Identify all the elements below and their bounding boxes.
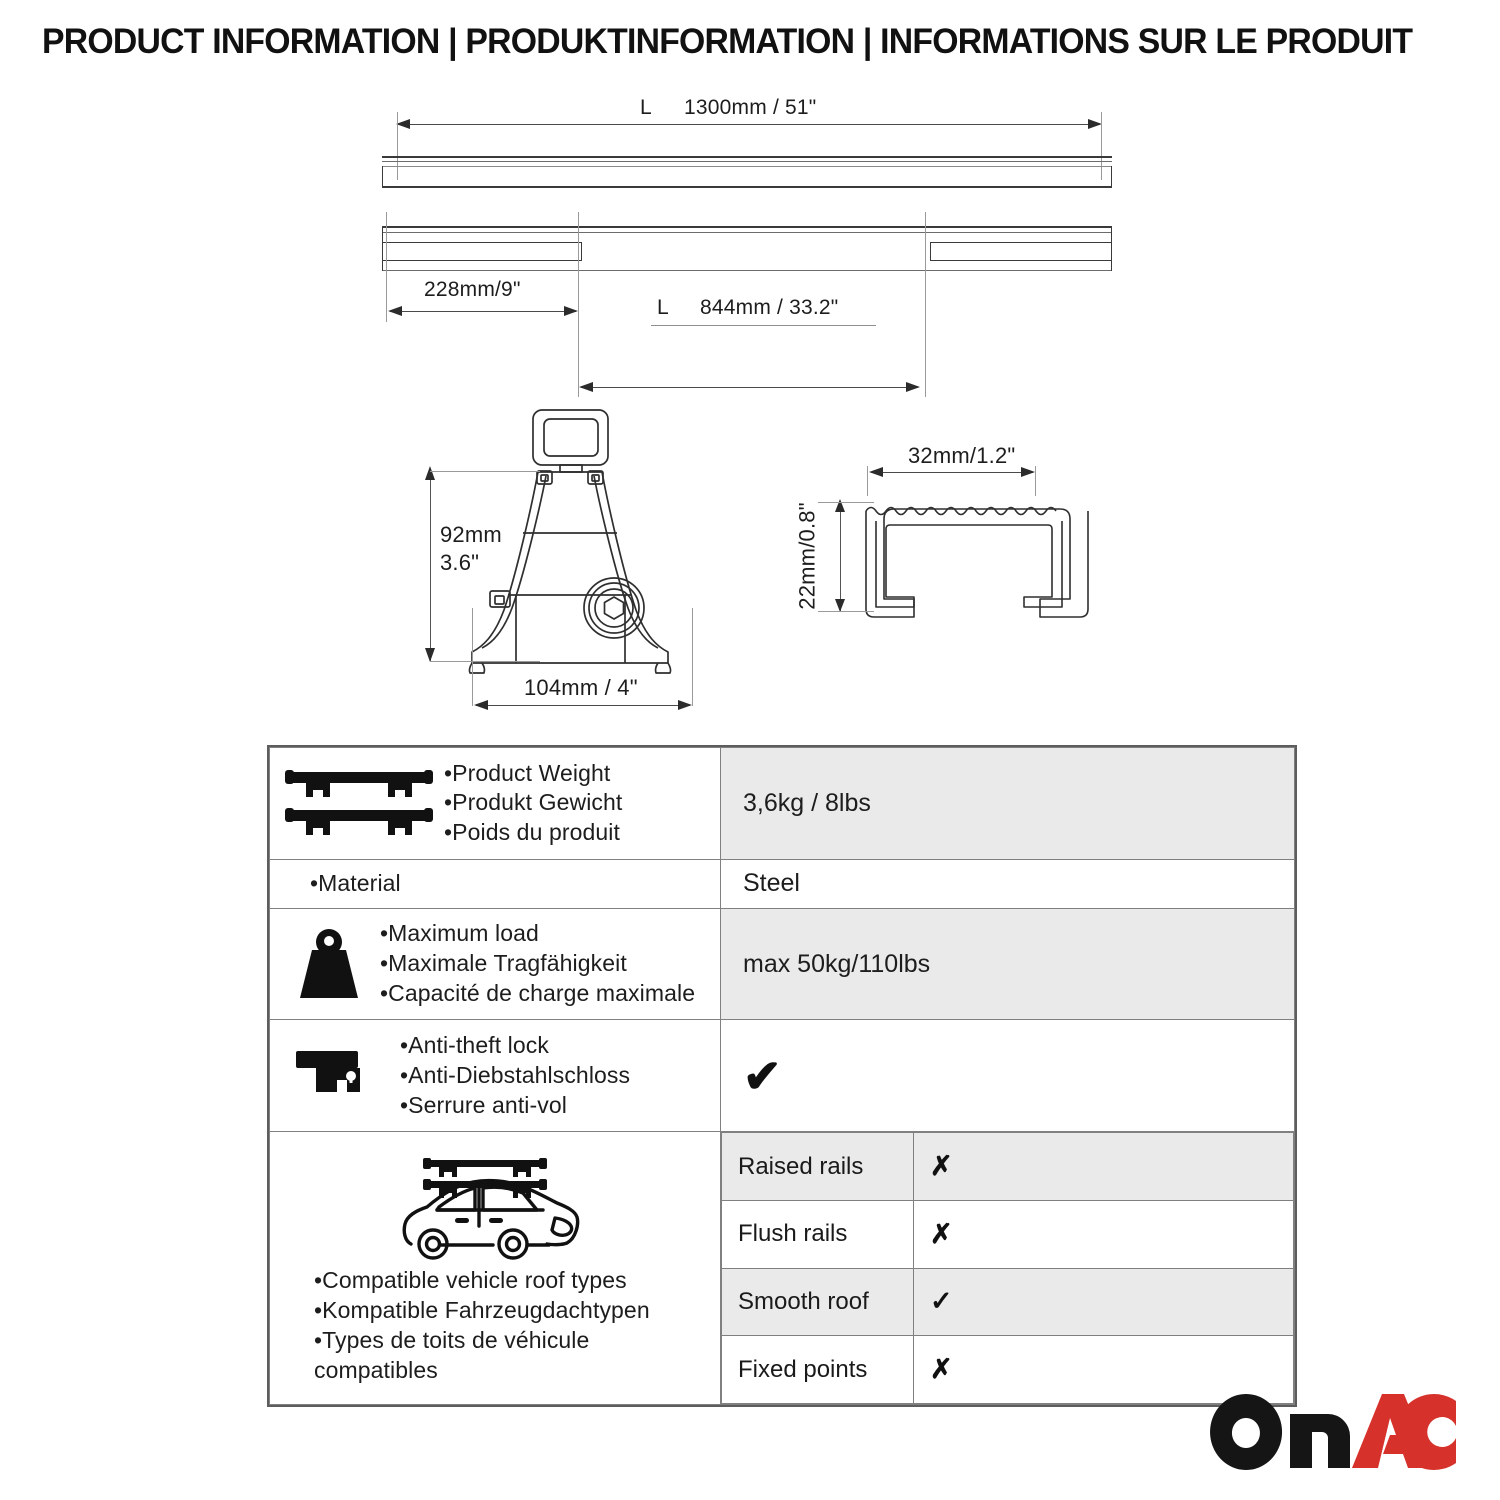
lock-icon (294, 1045, 374, 1107)
foot-height-line2: 3.6" (440, 550, 479, 576)
compat-row-smooth-roof: Smooth roof ✓ (722, 1268, 1294, 1336)
profile-width-ext-right (1035, 466, 1036, 496)
row-value-anti-theft: ✔ (721, 1020, 1295, 1132)
check-mark: ✓ (930, 1286, 953, 1316)
product-information-sheet: PRODUCT INFORMATION | PRODUKTINFORMATION… (0, 0, 1500, 1500)
row-label-text: •Material (310, 869, 401, 899)
compat-mark-smooth-roof: ✓ (914, 1268, 1294, 1336)
compat-row-flush-rails: Flush rails ✗ (722, 1200, 1294, 1268)
foot-width-dim-line (476, 705, 690, 706)
row-value-weight: 3,6kg / 8lbs (721, 748, 1295, 860)
row-label-text: •Anti-theft lock •Anti-Diebstahlschloss … (400, 1031, 630, 1121)
compatibility-subtable: Raised rails ✗ Flush rails ✗ (721, 1132, 1294, 1404)
profile-width-dim-line (871, 472, 1033, 473)
ext-line-228-left (386, 212, 387, 322)
row-label-text: •Maximum load •Maximale Tragfähigkeit •C… (380, 919, 695, 1009)
compat-mark-flush-rails: ✗ (914, 1200, 1294, 1268)
row-label-text: •Product Weight •Produkt Gewicht •Poids … (444, 759, 622, 849)
table-row: •Product Weight •Produkt Gewicht •Poids … (270, 748, 1295, 860)
end-offset-arrow-right (564, 306, 578, 316)
inner-span-arrow-right (906, 382, 920, 392)
compatibility-values-cell: Raised rails ✗ Flush rails ✗ (721, 1132, 1295, 1405)
profile-width-arrow-right (1021, 467, 1035, 477)
top-dim-arrow-right (1088, 119, 1102, 129)
compat-mark-raised-rails: ✗ (914, 1133, 1294, 1201)
top-dim-arrow-left (396, 119, 410, 129)
ext-line-228-right (578, 212, 579, 397)
row-label-cell: •Product Weight •Produkt Gewicht •Poids … (270, 748, 721, 860)
weight-icon (292, 926, 366, 1002)
table-row-compatibility: •Compatible vehicle roof types •Kompatib… (270, 1132, 1295, 1405)
end-offset-dim-line (390, 311, 576, 312)
row-label-cell: •Maximum load •Maximale Tragfähigkeit •C… (270, 908, 721, 1020)
check-mark: ✔ (743, 1050, 782, 1102)
table-row: •Anti-theft lock •Anti-Diebstahlschloss … (270, 1020, 1295, 1132)
top-dim-line (398, 124, 1100, 125)
profile-height-arrow-up (835, 499, 845, 512)
row-value-material: Steel (721, 859, 1295, 908)
omac-logo-mark (1208, 1392, 1458, 1472)
foot-height-ext-bottom (430, 661, 540, 662)
ext-line-right-top (1101, 112, 1102, 180)
compat-label-flush-rails: Flush rails (722, 1200, 914, 1268)
row-label-cell: •Anti-theft lock •Anti-Diebstahlschloss … (270, 1020, 721, 1132)
specification-table: •Product Weight •Produkt Gewicht •Poids … (267, 745, 1297, 1407)
inner-span-label: 844mm / 33.2" (700, 296, 838, 320)
foot-width-ext-left (472, 608, 473, 706)
table-row: •Material Steel (270, 859, 1295, 908)
cross-mark: ✗ (930, 1151, 953, 1181)
compatibility-label-cell: •Compatible vehicle roof types •Kompatib… (270, 1132, 721, 1405)
profile-height-ext-bottom (818, 611, 874, 612)
inner-span-underline (651, 325, 876, 326)
profile-width-ext-left (867, 466, 868, 496)
foot-height-ext-top (430, 471, 540, 472)
compat-row-raised-rails: Raised rails ✗ (722, 1133, 1294, 1201)
profile-height-dim-line (840, 503, 841, 611)
foot-width-label: 104mm / 4" (524, 675, 638, 701)
cross-mark: ✗ (930, 1219, 953, 1249)
top-length-prefix: L (640, 96, 652, 120)
row-value-max-load: max 50kg/110lbs (721, 908, 1295, 1020)
end-offset-label: 228mm/9" (424, 278, 521, 302)
cross-mark: ✗ (930, 1354, 953, 1384)
profile-height-ext-top (818, 502, 874, 503)
profile-width-arrow-left (869, 467, 883, 477)
row-label-cell: •Material (270, 859, 721, 908)
ext-line-844-right (925, 212, 926, 397)
end-offset-arrow-left (388, 306, 402, 316)
foot-height-dim-line (430, 471, 431, 661)
inner-span-arrow-left (579, 382, 593, 392)
car-with-rack-icon (395, 1148, 595, 1266)
profile-height-label: 22mm/0.8" (795, 502, 821, 609)
profile-width-label: 32mm/1.2" (908, 443, 1015, 469)
compat-label-raised-rails: Raised rails (722, 1133, 914, 1201)
table-row: •Maximum load •Maximale Tragfähigkeit •C… (270, 908, 1295, 1020)
inner-span-dim-line (581, 387, 918, 388)
foot-width-arrow-left (474, 700, 488, 710)
compatibility-label-text: •Compatible vehicle roof types •Kompatib… (278, 1266, 650, 1386)
ext-line-left-top (397, 112, 398, 180)
foot-width-ext-right (692, 608, 693, 706)
top-length-label: 1300mm / 51" (684, 96, 816, 120)
foot-height-line1: 92mm (440, 522, 502, 548)
compat-label-smooth-roof: Smooth roof (722, 1268, 914, 1336)
crossbars-icon (284, 764, 434, 842)
profile-cross-section (862, 487, 1092, 647)
omac-logo (1208, 1392, 1458, 1472)
page-title: PRODUCT INFORMATION | PRODUKTINFORMATION… (42, 22, 1412, 62)
foot-height-arrow-up (425, 466, 435, 480)
foot-width-arrow-right (678, 700, 692, 710)
inner-span-prefix: L (657, 296, 669, 320)
compat-label-fixed-points: Fixed points (722, 1336, 914, 1404)
foot-height-arrow-down (425, 648, 435, 662)
